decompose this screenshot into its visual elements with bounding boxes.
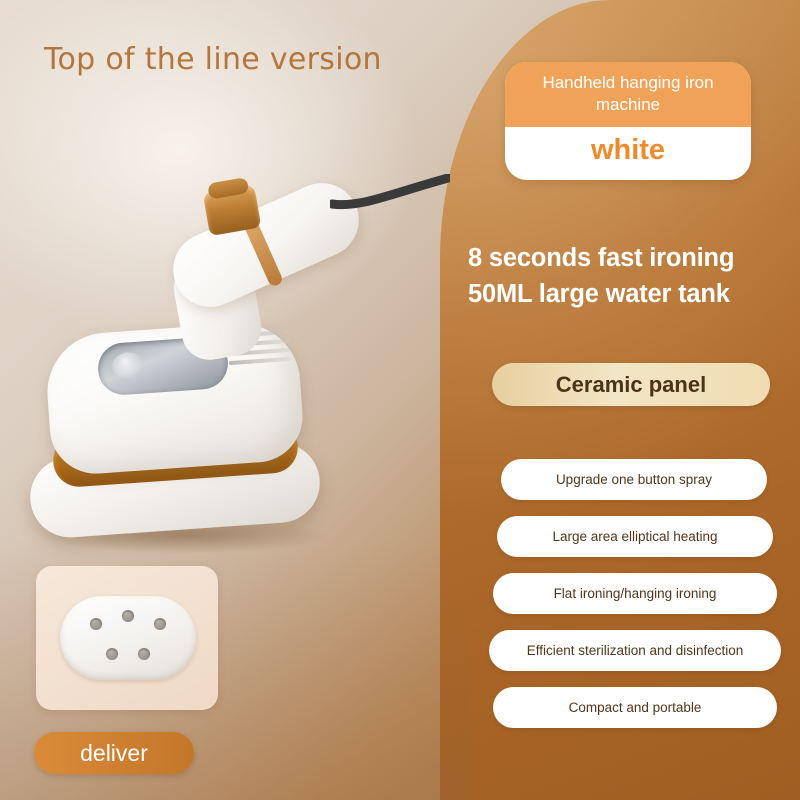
steam-hole-icon [154,618,166,630]
ceramic-panel-badge: Ceramic panel [492,363,770,406]
product-gold-cap [203,184,262,236]
steam-hole-icon [138,648,150,660]
spec-highlights: 8 seconds fast ironing 50ML large water … [468,240,788,312]
deliver-tag: deliver [34,732,194,774]
product-color-row: white [505,127,751,180]
product-image [0,150,470,570]
product-power-cable [330,174,450,214]
feature-item: Flat ironing/hanging ironing [493,573,777,614]
spec-line-2: 50ML large water tank [468,276,788,312]
product-color-value: white [591,134,665,166]
spec-line-1: 8 seconds fast ironing [468,240,788,276]
steam-hole-icon [90,618,102,630]
feature-item: Efficient sterilization and disinfection [489,630,781,671]
product-poster: Top of the line version deliver [0,0,800,800]
feature-list: Upgrade one button spray Large area elli… [487,459,783,744]
feature-item: Upgrade one button spray [501,459,767,500]
accessory-card [36,566,218,710]
accessory-soleplate [60,596,196,680]
feature-item: Large area elliptical heating [497,516,773,557]
steam-hole-icon [122,610,134,622]
feature-item: Compact and portable [493,687,777,728]
product-name-title: Handheld hanging iron machine [505,62,751,127]
steam-hole-icon [106,648,118,660]
product-name-card: Handheld hanging iron machine white [505,62,751,180]
page-title: Top of the line version [44,42,382,77]
